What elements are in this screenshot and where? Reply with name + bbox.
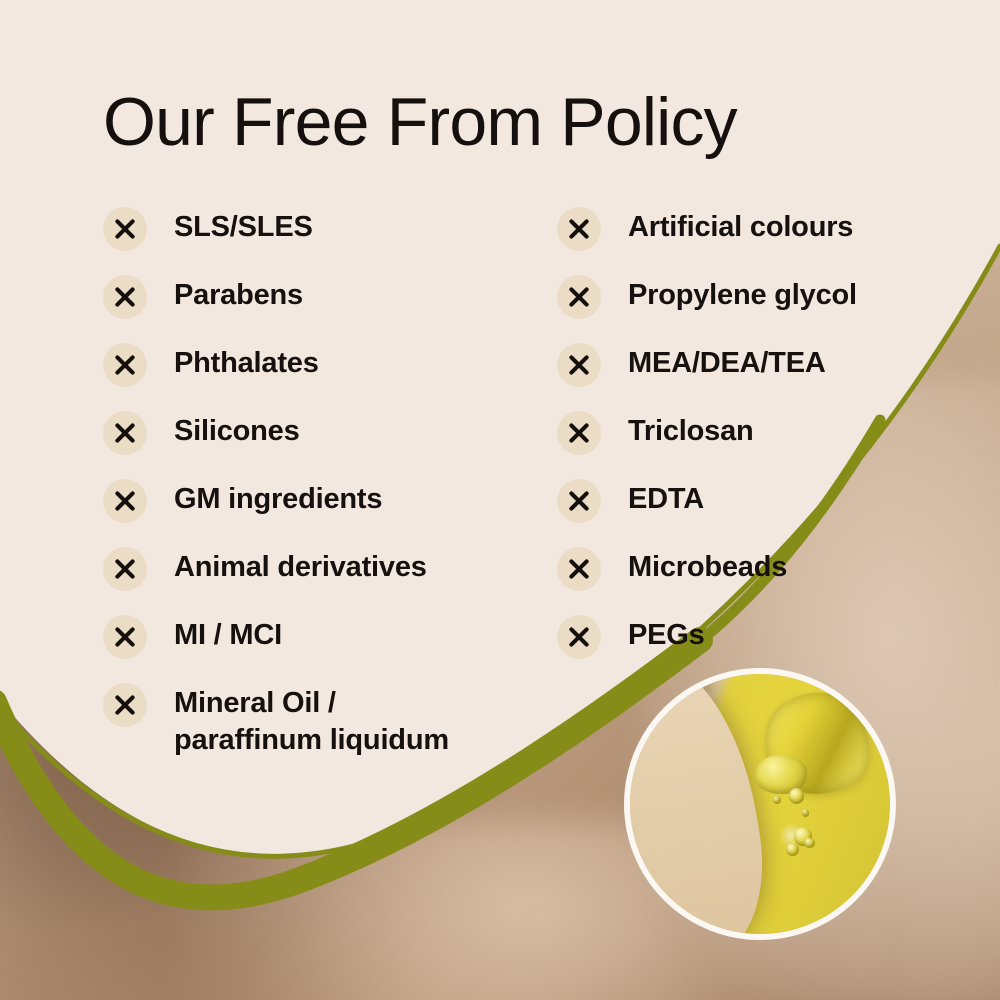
list-item: Mineral Oil / paraffinum liquidum bbox=[103, 682, 543, 778]
oil-droplet bbox=[804, 838, 814, 848]
list-item: SLS/SLES bbox=[103, 206, 543, 274]
cross-icon bbox=[557, 343, 601, 387]
list-item-label: Propylene glycol bbox=[628, 277, 857, 314]
cross-icon bbox=[103, 683, 147, 727]
oil-droplet bbox=[789, 788, 805, 804]
list-item-label: EDTA bbox=[628, 481, 704, 518]
cross-icon bbox=[103, 615, 147, 659]
list-item: EDTA bbox=[557, 478, 957, 546]
list-item-label: MI / MCI bbox=[174, 617, 282, 654]
list-item: Phthalates bbox=[103, 342, 543, 410]
cross-icon bbox=[103, 275, 147, 319]
oil-droplet bbox=[773, 796, 781, 804]
list-item-label: Triclosan bbox=[628, 413, 754, 450]
list-item-label: Artificial colours bbox=[628, 209, 853, 246]
list-item: Artificial colours bbox=[557, 206, 957, 274]
list-item-label: Parabens bbox=[174, 277, 303, 314]
list-item: MI / MCI bbox=[103, 614, 543, 682]
cross-icon bbox=[557, 547, 601, 591]
cross-icon bbox=[103, 411, 147, 455]
list-item-label: Animal derivatives bbox=[174, 549, 427, 586]
list-item-label: Silicones bbox=[174, 413, 300, 450]
oil-photo-inner bbox=[630, 674, 890, 934]
list-item: MEA/DEA/TEA bbox=[557, 342, 957, 410]
list-item: Parabens bbox=[103, 274, 543, 342]
oil-droplet bbox=[802, 809, 810, 817]
list-item: GM ingredients bbox=[103, 478, 543, 546]
cross-icon bbox=[557, 411, 601, 455]
list-item: Silicones bbox=[103, 410, 543, 478]
page-title: Our Free From Policy bbox=[103, 88, 737, 156]
cross-icon bbox=[103, 547, 147, 591]
list-item-label: GM ingredients bbox=[174, 481, 382, 518]
free-from-list-left: SLS/SLES Parabens Phthalates Silicones bbox=[103, 206, 543, 778]
list-item-label: Microbeads bbox=[628, 549, 787, 586]
cross-icon bbox=[557, 207, 601, 251]
oil-droplet bbox=[786, 843, 799, 856]
list-item-label: PEGs bbox=[628, 617, 705, 654]
product-oil-photo bbox=[624, 668, 896, 940]
cross-icon bbox=[557, 615, 601, 659]
cross-icon bbox=[557, 479, 601, 523]
list-item-label: MEA/DEA/TEA bbox=[628, 345, 826, 382]
list-item-label: Mineral Oil / paraffinum liquidum bbox=[174, 685, 449, 759]
list-item: Microbeads bbox=[557, 546, 957, 614]
list-item: Animal derivatives bbox=[103, 546, 543, 614]
cross-icon bbox=[103, 207, 147, 251]
cross-icon bbox=[103, 479, 147, 523]
oil-serum-blob bbox=[747, 674, 888, 815]
list-item-label: SLS/SLES bbox=[174, 209, 313, 246]
list-item-label: Phthalates bbox=[174, 345, 319, 382]
cross-icon bbox=[557, 275, 601, 319]
cross-icon bbox=[103, 343, 147, 387]
free-from-list-right: Artificial colours Propylene glycol MEA/… bbox=[557, 206, 957, 682]
oil-skin-area bbox=[624, 668, 778, 940]
free-from-policy-graphic: Our Free From Policy SLS/SLES Parabens P… bbox=[0, 0, 1000, 1000]
list-item: Triclosan bbox=[557, 410, 957, 478]
list-item: Propylene glycol bbox=[557, 274, 957, 342]
